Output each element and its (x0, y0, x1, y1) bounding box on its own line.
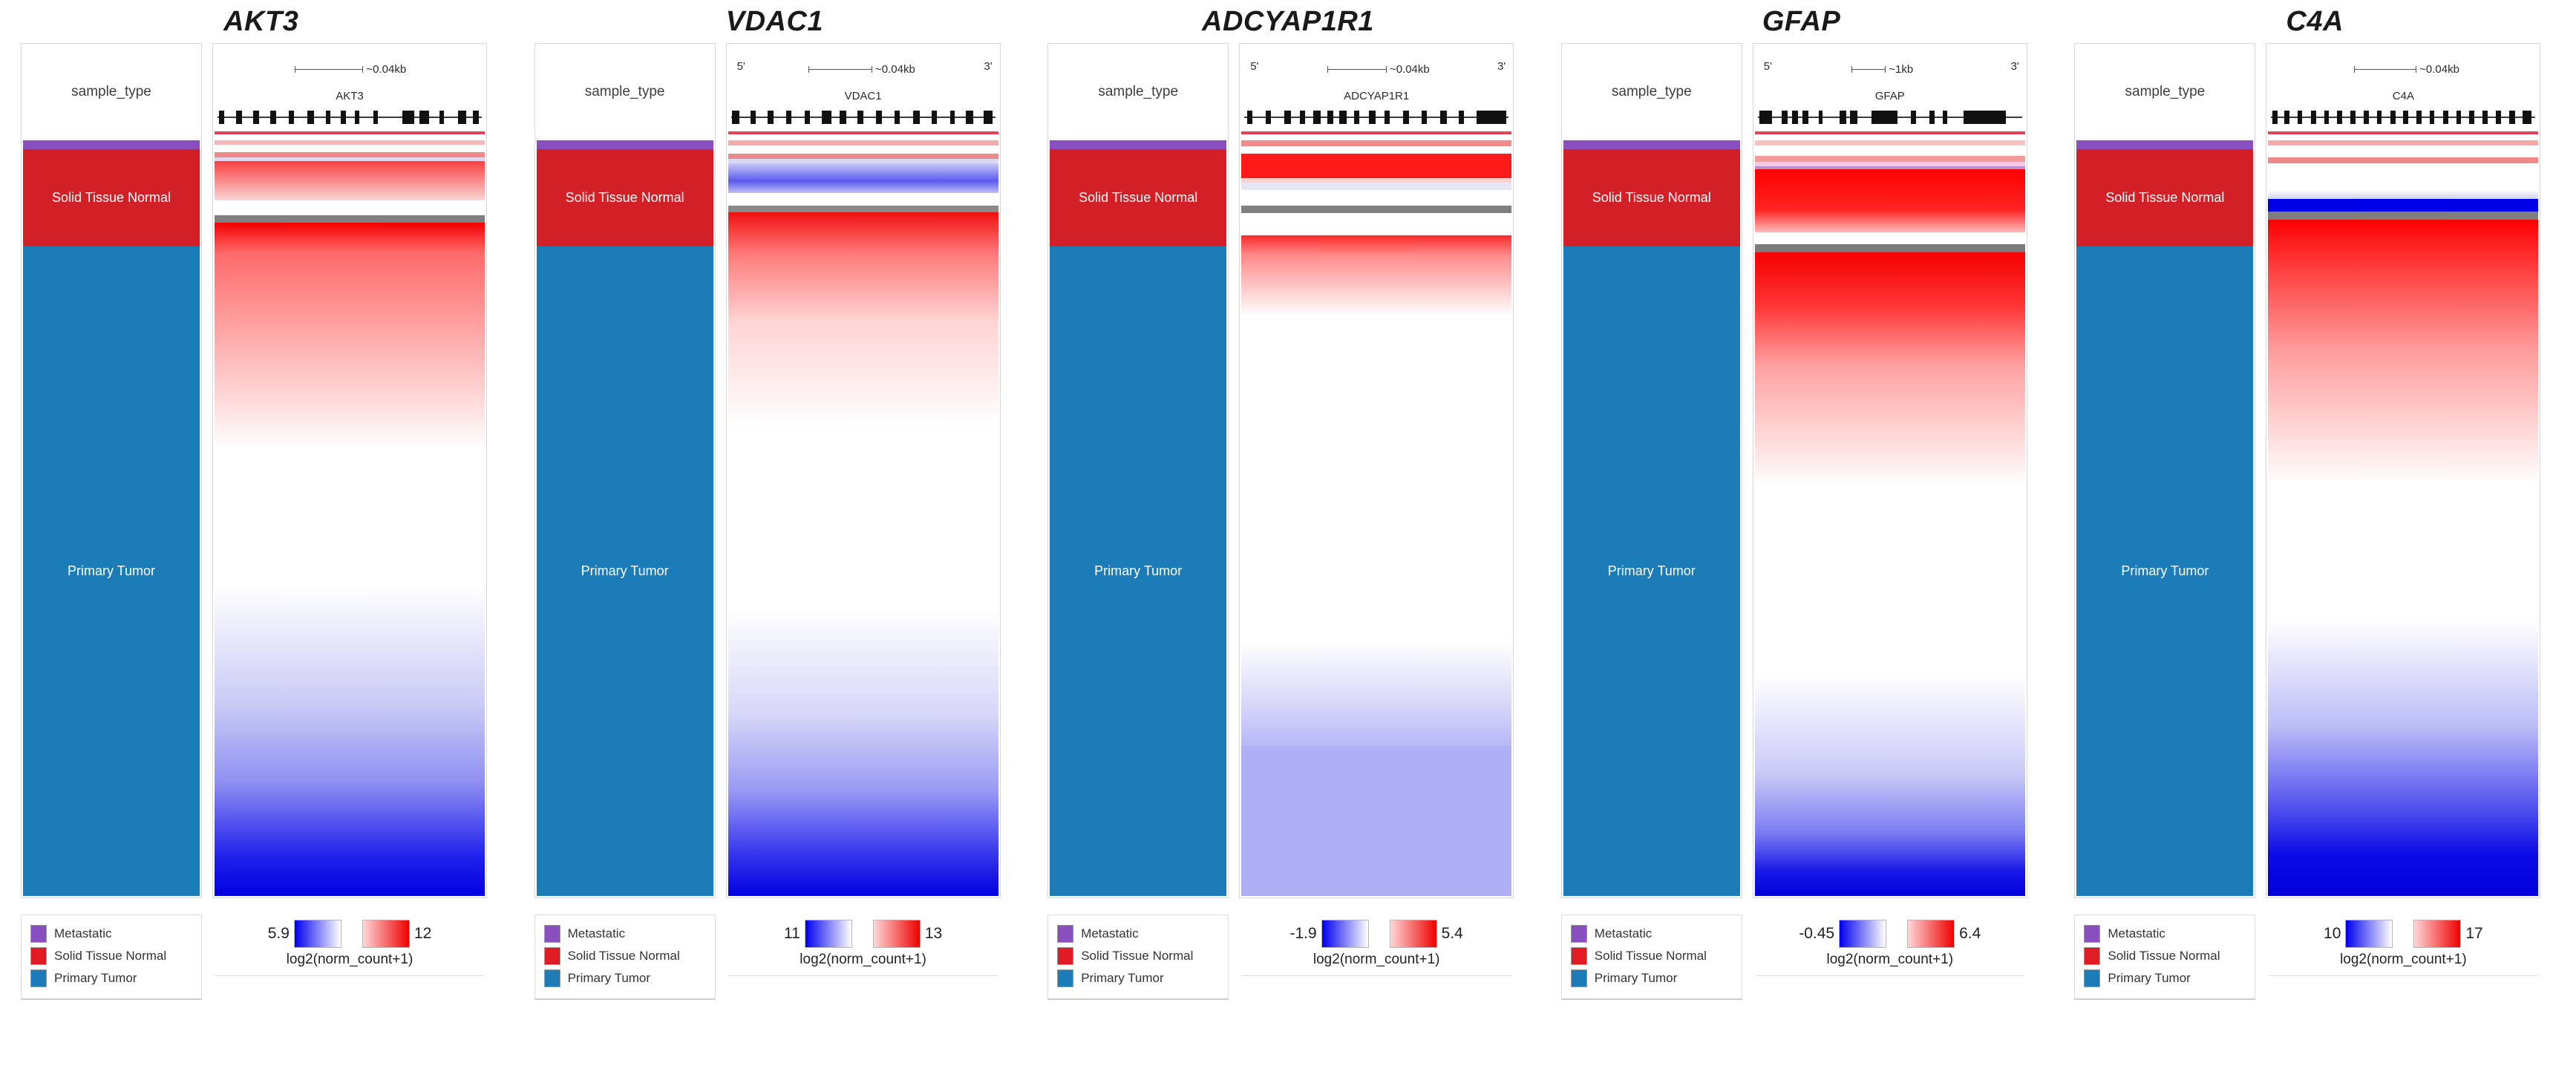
sample-type-band-label: Solid Tissue Normal (52, 190, 171, 206)
legend-label: Metastatic (1595, 926, 1652, 941)
exon-block (2272, 111, 2277, 124)
sample-type-track: Solid Tissue NormalPrimary Tumor (23, 140, 200, 896)
scale-bar-line (2354, 69, 2416, 70)
scale-caption: log2(norm_count+1) (2266, 952, 2540, 968)
sample-type-column: sample_typeSolid Tissue NormalPrimary Tu… (1561, 43, 1742, 898)
legend-label: Solid Tissue Normal (568, 949, 680, 963)
sample-type-band-label: Primary Tumor (581, 563, 669, 579)
heatmap-band (728, 321, 998, 428)
sample-type-band-label: Solid Tissue Normal (2105, 190, 2224, 206)
exon-block (1840, 111, 1846, 124)
heatmap-band (1241, 746, 1511, 896)
legend-item[interactable]: Primary Tumor (544, 967, 707, 989)
heatmap-band (215, 586, 485, 707)
legend-label: Metastatic (2108, 926, 2165, 941)
exon-block (1313, 111, 1321, 124)
exon-block (1911, 111, 1915, 124)
legend-swatch-icon (30, 947, 47, 965)
heatmap-band (215, 223, 485, 253)
three-prime-label: 3' (2011, 60, 2019, 73)
sample-type-band[interactable]: Primary Tumor (2076, 246, 2253, 896)
heatmap-band (728, 145, 998, 154)
heatmap-band (2268, 802, 2538, 854)
gene-region-marker (2268, 131, 2538, 134)
heatmap-band (1241, 213, 1511, 236)
sample-type-header: sample_type (1048, 44, 1228, 140)
legend-label: Metastatic (568, 926, 625, 941)
exon-block (2364, 111, 2369, 124)
legend-label: Metastatic (1081, 926, 1138, 941)
scale-bar: ~0.04kb (1327, 63, 1430, 76)
exon-block (984, 111, 993, 124)
scale-bar-line (1851, 69, 1886, 70)
gene-region-marker (728, 131, 998, 134)
red-ramp-icon (1390, 920, 1437, 948)
heatmap-band (728, 254, 998, 322)
heatmap-band (2268, 726, 2538, 802)
exon-block (2337, 111, 2342, 124)
sample-type-band[interactable]: Primary Tumor (537, 246, 713, 896)
heatmap-band (728, 163, 998, 181)
exon-block (2377, 111, 2382, 124)
heatmap-band (2268, 265, 2538, 348)
exon-block (270, 111, 276, 124)
exon-block (1300, 111, 1305, 124)
sample-type-band-label: Solid Tissue Normal (566, 190, 684, 206)
color-scale-row: -1.95.4 (1239, 917, 1514, 950)
heatmap-band (2268, 145, 2538, 157)
legend-swatch-icon (544, 969, 560, 987)
panel-title: C4A (2058, 0, 2572, 43)
legend-item[interactable]: Metastatic (544, 923, 707, 945)
exon-block (1422, 111, 1427, 124)
legend-item[interactable]: Metastatic (2084, 923, 2247, 945)
panel-title: ADCYAP1R1 (1031, 0, 1545, 43)
category-legend: MetastaticSolid Tissue NormalPrimary Tum… (1047, 915, 1229, 1000)
legend-swatch-icon (1571, 925, 1587, 943)
exon-block (895, 111, 900, 124)
legend-label: Solid Tissue Normal (1595, 949, 1707, 963)
sample-type-column: sample_typeSolid Tissue NormalPrimary Tu… (2074, 43, 2255, 898)
legend-label: Primary Tumor (1595, 971, 1677, 986)
sample-type-band[interactable] (2076, 140, 2253, 149)
legend-item[interactable]: Solid Tissue Normal (2084, 945, 2247, 967)
blue-ramp-icon (805, 920, 852, 948)
color-scale-legend: -0.456.4log2(norm_count+1) (1753, 915, 2027, 976)
exon-block (1385, 111, 1390, 124)
heatmap-band (1241, 315, 1511, 641)
exon-block (1782, 111, 1788, 124)
exon-block (2456, 111, 2461, 124)
three-prime-label: 3' (984, 60, 992, 73)
sample-type-band[interactable]: Primary Tumor (1563, 246, 1740, 896)
legend-item[interactable]: Metastatic (30, 923, 194, 945)
heatmap-band (2268, 199, 2538, 211)
exon-block (1850, 111, 1857, 124)
legend-item[interactable]: Solid Tissue Normal (1571, 945, 1734, 967)
exon-block (913, 111, 920, 124)
exon-block (2403, 111, 2407, 124)
five-prime-label: 5' (737, 60, 745, 73)
sample-type-band[interactable] (23, 140, 200, 149)
gene-name-label: C4A (2266, 90, 2540, 102)
exon-block (402, 111, 414, 124)
legend-swatch-icon (2084, 925, 2100, 943)
scale-min-value: -0.45 (1799, 925, 1834, 943)
heatmap-band (728, 181, 998, 193)
legend-item[interactable]: Metastatic (1571, 923, 1734, 945)
exon-block (473, 111, 480, 124)
sample-type-band-label: Primary Tumor (2121, 563, 2209, 579)
legend-swatch-icon (30, 969, 47, 987)
exon-block (966, 111, 972, 124)
legend-item[interactable]: Solid Tissue Normal (30, 945, 194, 967)
exon-block (307, 111, 314, 124)
sample-type-band-label: Primary Tumor (1094, 563, 1182, 579)
scale-max-value: 6.4 (1959, 925, 1981, 943)
legend-label: Metastatic (54, 926, 111, 941)
scale-bar-line (295, 69, 363, 70)
heatmap-band (728, 140, 998, 145)
heatmap-band (728, 851, 998, 896)
color-scale-row: 1017 (2266, 917, 2540, 950)
heatmap-band (1241, 255, 1511, 315)
sample-type-band[interactable]: Primary Tumor (23, 246, 200, 896)
scale-max-value: 17 (2465, 925, 2482, 943)
category-legend: MetastaticSolid Tissue NormalPrimary Tum… (1561, 915, 1742, 1000)
heatmap-column[interactable]: ~0.04kbAKT3 (212, 43, 487, 898)
heatmap-band (2268, 163, 2538, 191)
sample-type-band[interactable]: Solid Tissue Normal (537, 149, 713, 246)
legend-item[interactable]: Primary Tumor (1057, 967, 1220, 989)
exon-block (2430, 111, 2434, 124)
blue-ramp-icon (2345, 920, 2393, 948)
legend-row: MetastaticSolid Tissue NormalPrimary Tum… (2058, 915, 2572, 1000)
exon-block (2284, 111, 2289, 124)
sample-type-header: sample_type (2075, 44, 2255, 140)
heatmap-band (1755, 675, 2025, 773)
heatmap-band (1755, 834, 2025, 871)
exon-block (2496, 111, 2501, 124)
color-scale-row: -0.456.4 (1753, 917, 2027, 950)
sample-type-band[interactable] (1563, 140, 1740, 149)
exon-block (355, 111, 359, 124)
sample-type-band[interactable]: Solid Tissue Normal (1563, 149, 1740, 246)
panel-body: sample_typeSolid Tissue NormalPrimary Tu… (1031, 43, 1545, 898)
gene-structure-track: 5'3'~0.04kbADCYAP1R1 (1240, 44, 1513, 140)
heatmap-band (215, 145, 485, 152)
sample-type-track: Solid Tissue NormalPrimary Tumor (1050, 140, 1226, 896)
heatmap-track[interactable] (1241, 140, 1511, 896)
exon-block (1792, 111, 1798, 124)
legend-item[interactable]: Metastatic (1057, 923, 1220, 945)
exon-block (1964, 111, 2006, 124)
legend-item[interactable]: Primary Tumor (1571, 967, 1734, 989)
exon-block (751, 111, 756, 124)
scale-max-value: 13 (925, 925, 942, 943)
exon-block (2390, 111, 2396, 124)
exon-block (1284, 111, 1291, 124)
exon-row (731, 108, 996, 127)
heatmap-band (215, 253, 485, 450)
heatmap-band (215, 449, 485, 585)
gene-structure-track: 5'3'~0.04kbVDAC1 (727, 44, 1000, 140)
sample-type-band[interactable]: Solid Tissue Normal (23, 149, 200, 246)
gene-panel-gfap: GFAPsample_typeSolid Tissue NormalPrimar… (1545, 0, 2059, 1083)
legend-row: MetastaticSolid Tissue NormalPrimary Tum… (4, 915, 518, 1000)
exon-block (1929, 111, 1935, 124)
heatmap-band (728, 790, 998, 850)
heatmap-track[interactable] (1755, 140, 2025, 896)
heatmap-band (215, 215, 485, 223)
panel-body: sample_typeSolid Tissue NormalPrimary Tu… (1545, 43, 2059, 898)
scale-bar-line (808, 69, 872, 70)
heatmap-column[interactable]: 5'3'~1kbGFAP (1753, 43, 2027, 898)
exon-block (805, 111, 810, 124)
heatmap-band (1755, 232, 2025, 244)
heatmap-band (1241, 140, 1511, 146)
heatmap-track[interactable] (2268, 140, 2538, 896)
sample-type-band[interactable]: Solid Tissue Normal (1050, 149, 1226, 246)
scale-bar: ~1kb (1851, 63, 1913, 76)
exon-block (2469, 111, 2474, 124)
heatmap-column[interactable]: ~0.04kbC4A (2266, 43, 2540, 898)
heatmap-band (1241, 235, 1511, 255)
heatmap-band (1755, 252, 2025, 305)
legend-swatch-icon (30, 925, 47, 943)
heatmap-band (728, 428, 998, 609)
heatmap-band (1241, 146, 1511, 154)
heatmap-band (2268, 854, 2538, 896)
color-scale-row: 1113 (726, 917, 1001, 950)
sample-type-track: Solid Tissue NormalPrimary Tumor (2076, 140, 2253, 896)
heatmap-band (2268, 157, 2538, 163)
scale-min-value: 11 (784, 925, 800, 943)
legend-divider (729, 975, 998, 976)
heatmap-band (1755, 140, 2025, 145)
heatmap-band (215, 857, 485, 896)
legend-item[interactable]: Primary Tumor (30, 967, 194, 989)
heatmap-band (2268, 620, 2538, 726)
heatmap-band (215, 200, 485, 215)
sample-type-band[interactable]: Primary Tumor (1050, 246, 1226, 896)
heatmap-track[interactable] (215, 140, 485, 896)
heatmap-band (728, 212, 998, 254)
scale-min-value: 5.9 (268, 925, 290, 943)
sample-type-track: Solid Tissue NormalPrimary Tumor (1563, 140, 1740, 896)
gene-name-label: AKT3 (213, 90, 486, 102)
exon-block (1802, 111, 1808, 124)
exon-block (840, 111, 846, 124)
heatmap-band (1241, 641, 1511, 701)
panel-title: AKT3 (4, 0, 518, 43)
exon-block (2298, 111, 2302, 124)
heatmap-band (1241, 190, 1511, 205)
sample-type-band[interactable] (537, 140, 713, 149)
scale-max-value: 5.4 (1442, 925, 1463, 943)
heatmap-column[interactable]: 5'3'~0.04kbVDAC1 (726, 43, 1001, 898)
scale-min-value: 10 (2324, 925, 2341, 943)
heatmap-band (1755, 169, 2025, 210)
gene-panel-row: AKT3sample_typeSolid Tissue NormalPrimar… (0, 0, 2576, 1083)
legend-label: Primary Tumor (568, 971, 650, 986)
exon-block (768, 111, 773, 124)
sample-type-band-label: Primary Tumor (1608, 563, 1696, 579)
panel-body: sample_typeSolid Tissue NormalPrimary Tu… (518, 43, 1032, 898)
legend-label: Primary Tumor (54, 971, 137, 986)
figure-root: AKT3sample_typeSolid Tissue NormalPrimar… (0, 0, 2576, 1083)
exon-block (2523, 111, 2532, 124)
exon-block (2482, 111, 2487, 124)
exon-block (1943, 111, 1947, 124)
color-scale-legend: 1017log2(norm_count+1) (2266, 915, 2540, 976)
legend-item[interactable]: Solid Tissue Normal (544, 945, 707, 967)
exon-block (876, 111, 881, 124)
heatmap-band (2268, 220, 2538, 265)
heatmap-band (2268, 484, 2538, 620)
heatmap-band (1241, 183, 1511, 190)
exon-block (289, 111, 294, 124)
exon-block (326, 111, 330, 124)
exon-block (253, 111, 259, 124)
sample-type-band[interactable] (1050, 140, 1226, 149)
category-legend: MetastaticSolid Tissue NormalPrimary Tum… (535, 915, 716, 1000)
legend-label: Solid Tissue Normal (1081, 949, 1193, 963)
heatmap-column[interactable]: 5'3'~0.04kbADCYAP1R1 (1239, 43, 1514, 898)
five-prime-label: 5' (1764, 60, 1772, 73)
exon-block (1477, 111, 1506, 124)
scale-max-value: 12 (414, 925, 431, 943)
heatmap-band (1755, 210, 2025, 233)
color-scale-legend: 1113log2(norm_count+1) (726, 915, 1001, 976)
heatmap-band (728, 206, 998, 212)
panel-body: sample_typeSolid Tissue NormalPrimary Tu… (2058, 43, 2572, 898)
legend-divider (215, 975, 484, 976)
sample-type-band[interactable]: Solid Tissue Normal (2076, 149, 2253, 246)
gene-region-marker (1755, 131, 2025, 134)
heatmap-band (1755, 145, 2025, 156)
sample-type-header: sample_type (535, 44, 715, 140)
heatmap-track[interactable] (728, 140, 998, 896)
heatmap-band (2268, 212, 2538, 220)
heatmap-band (1755, 305, 2025, 365)
exon-block (1247, 111, 1252, 124)
heatmap-band (728, 193, 998, 205)
heatmap-band (215, 782, 485, 857)
exon-block (1459, 111, 1464, 124)
scale-bar-label: ~1kb (1889, 63, 1913, 76)
exon-block (373, 111, 378, 124)
heatmap-band (1241, 701, 1511, 746)
red-ramp-icon (873, 920, 921, 948)
exon-block (1871, 111, 1898, 124)
exon-block (458, 111, 466, 124)
scale-bar: ~0.04kb (2354, 63, 2459, 76)
gene-region-marker (215, 131, 485, 134)
exon-block (439, 111, 444, 124)
heatmap-band (2268, 190, 2538, 199)
scale-caption: log2(norm_count+1) (1753, 952, 2027, 968)
exon-block (2416, 111, 2422, 124)
sample-type-column: sample_typeSolid Tissue NormalPrimary Tu… (21, 43, 202, 898)
three-prime-label: 3' (1497, 60, 1506, 73)
heatmap-band (1755, 244, 2025, 252)
gene-structure-track: ~0.04kbC4A (2266, 44, 2540, 140)
legend-label: Primary Tumor (1081, 971, 1163, 986)
legend-item[interactable]: Primary Tumor (2084, 967, 2247, 989)
gene-name-label: GFAP (1753, 90, 2027, 102)
heatmap-band (2268, 348, 2538, 484)
exon-block (2350, 111, 2355, 124)
legend-swatch-icon (544, 947, 560, 965)
exon-block (932, 111, 937, 124)
legend-swatch-icon (2084, 969, 2100, 987)
red-ramp-icon (2413, 920, 2461, 948)
sample-type-band-label: Primary Tumor (68, 563, 155, 579)
blue-ramp-icon (1839, 920, 1886, 948)
exon-block (1440, 111, 1447, 124)
exon-block (1327, 111, 1333, 124)
panel-body: sample_typeSolid Tissue NormalPrimary Tu… (4, 43, 518, 898)
scale-caption: log2(norm_count+1) (1239, 952, 1514, 968)
exon-block (2443, 111, 2448, 124)
legend-row: MetastaticSolid Tissue NormalPrimary Tum… (518, 915, 1032, 1000)
legend-divider (1756, 975, 2024, 976)
gene-region-marker (1241, 131, 1511, 134)
gene-panel-akt3: AKT3sample_typeSolid Tissue NormalPrimar… (4, 0, 518, 1083)
five-prime-label: 5' (1250, 60, 1258, 73)
scale-bar: ~0.04kb (295, 63, 406, 76)
scale-bar: ~0.04kb (808, 63, 915, 76)
sample-type-header: sample_type (1562, 44, 1742, 140)
exon-block (857, 111, 863, 124)
heatmap-band (215, 706, 485, 782)
heatmap-band (1241, 206, 1511, 213)
legend-swatch-icon (1571, 969, 1587, 987)
gene-panel-adcyap1r1: ADCYAP1R1sample_typeSolid Tissue NormalP… (1031, 0, 1545, 1083)
exon-block (822, 111, 831, 124)
category-legend: MetastaticSolid Tissue NormalPrimary Tum… (21, 915, 202, 1000)
legend-swatch-icon (544, 925, 560, 943)
heatmap-band (1755, 365, 2025, 486)
red-ramp-icon (362, 920, 410, 948)
exon-block (1403, 111, 1410, 124)
legend-item[interactable]: Solid Tissue Normal (1057, 945, 1220, 967)
scale-bar-line (1327, 69, 1387, 70)
exon-block (219, 111, 224, 124)
scale-caption: log2(norm_count+1) (726, 952, 1001, 968)
exon-row (1244, 108, 1508, 127)
legend-label: Primary Tumor (2108, 971, 2190, 986)
exon-block (341, 111, 346, 124)
exon-block (236, 111, 242, 124)
blue-ramp-icon (294, 920, 341, 948)
scale-bar-label: ~0.04kb (366, 63, 406, 76)
legend-swatch-icon (1057, 969, 1073, 987)
exon-block (1339, 111, 1346, 124)
gene-panel-c4a: C4Asample_typeSolid Tissue NormalPrimary… (2058, 0, 2572, 1083)
sample-type-band-label: Solid Tissue Normal (1079, 190, 1197, 206)
exon-block (1819, 111, 1823, 124)
heatmap-band (1755, 871, 2025, 896)
legend-divider (1242, 975, 1511, 976)
sample-type-track: Solid Tissue NormalPrimary Tumor (537, 140, 713, 896)
legend-label: Solid Tissue Normal (2108, 949, 2220, 963)
exon-block (2509, 111, 2516, 124)
legend-swatch-icon (2084, 947, 2100, 965)
gene-name-label: VDAC1 (727, 90, 1000, 102)
exon-block (1759, 111, 1773, 124)
